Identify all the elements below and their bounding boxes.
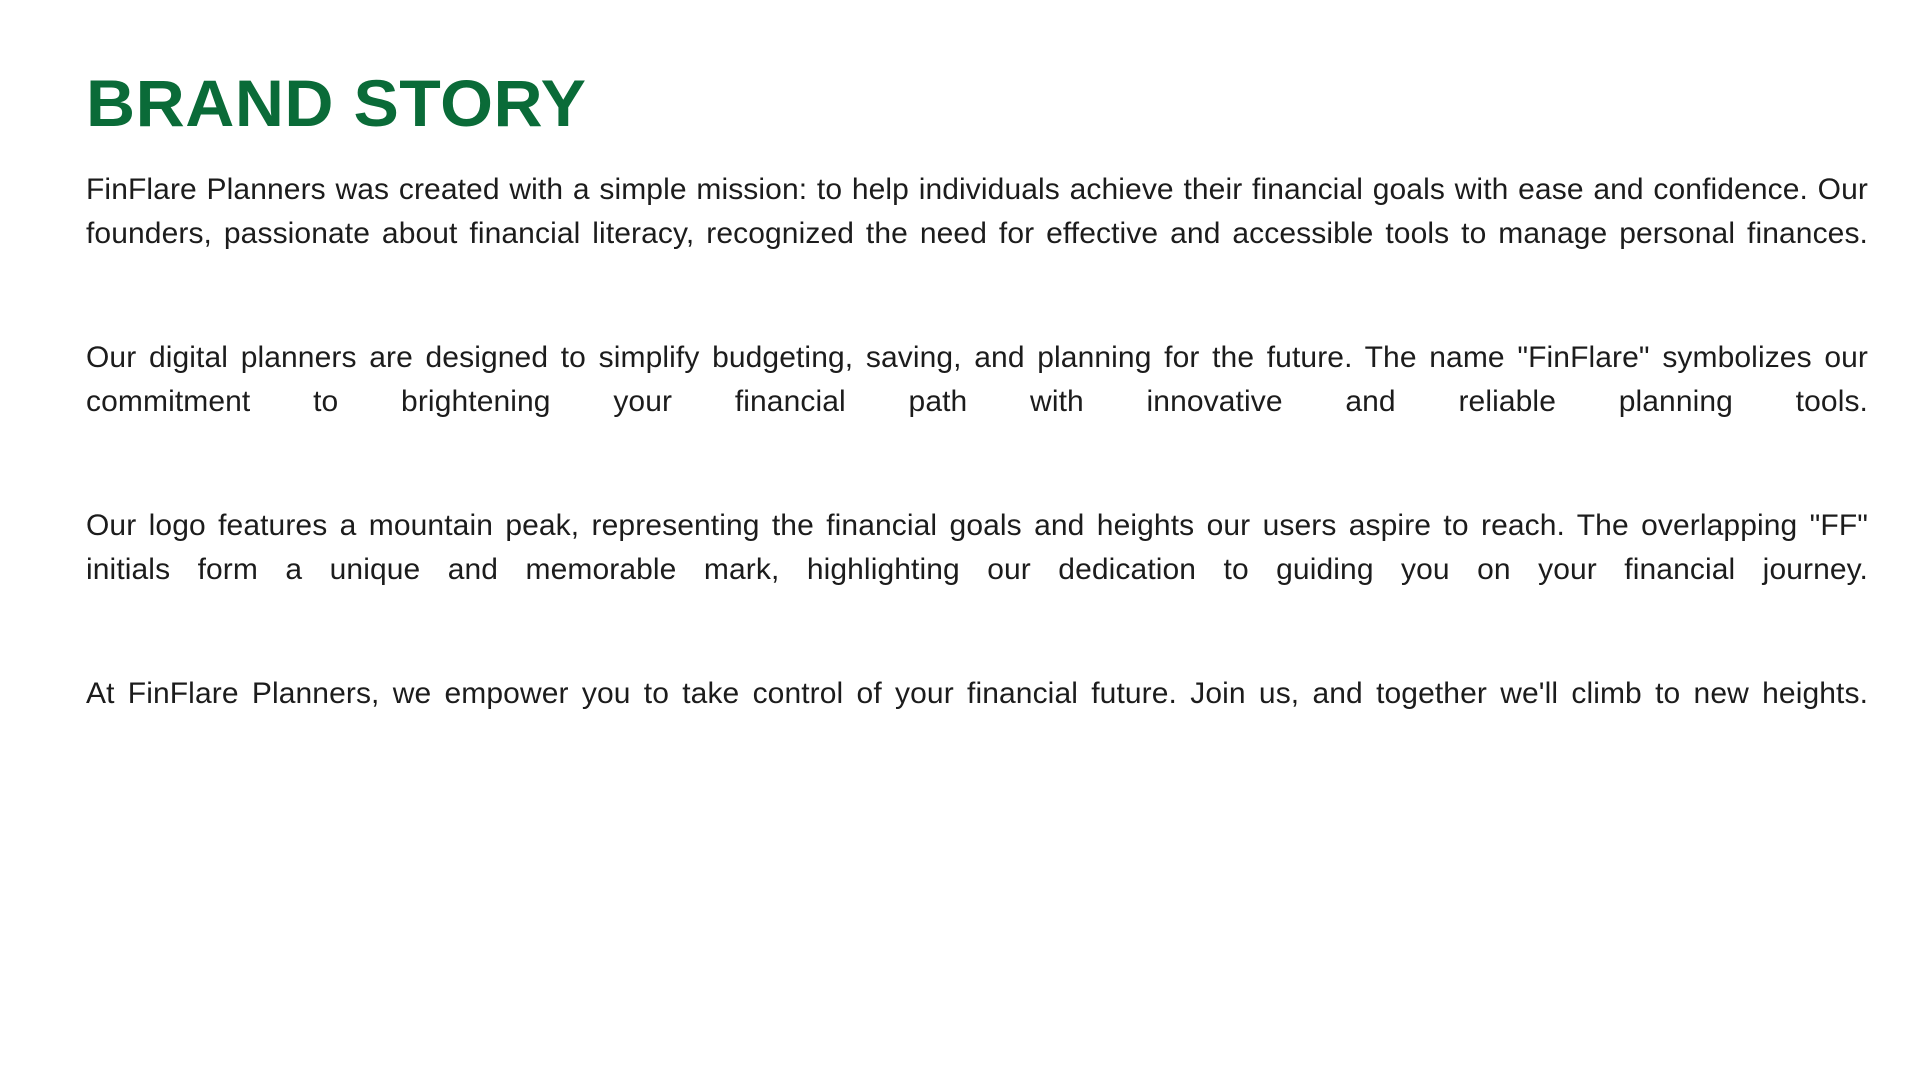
body-paragraph-4: At FinFlare Planners, we empower you to … <box>86 672 1868 760</box>
page-title: BRAND STORY <box>86 70 1920 136</box>
body-copy-block: FinFlare Planners was created with a sim… <box>86 168 1868 760</box>
body-paragraph-1: FinFlare Planners was created with a sim… <box>86 168 1868 300</box>
content-area: BRAND STORY FinFlare Planners was create… <box>86 70 1868 760</box>
body-paragraph-3: Our logo features a mountain peak, repre… <box>86 504 1868 636</box>
slide-canvas: BRAND STORY FinFlare Planners was create… <box>0 0 1920 1080</box>
body-paragraph-2: Our digital planners are designed to sim… <box>86 336 1868 468</box>
